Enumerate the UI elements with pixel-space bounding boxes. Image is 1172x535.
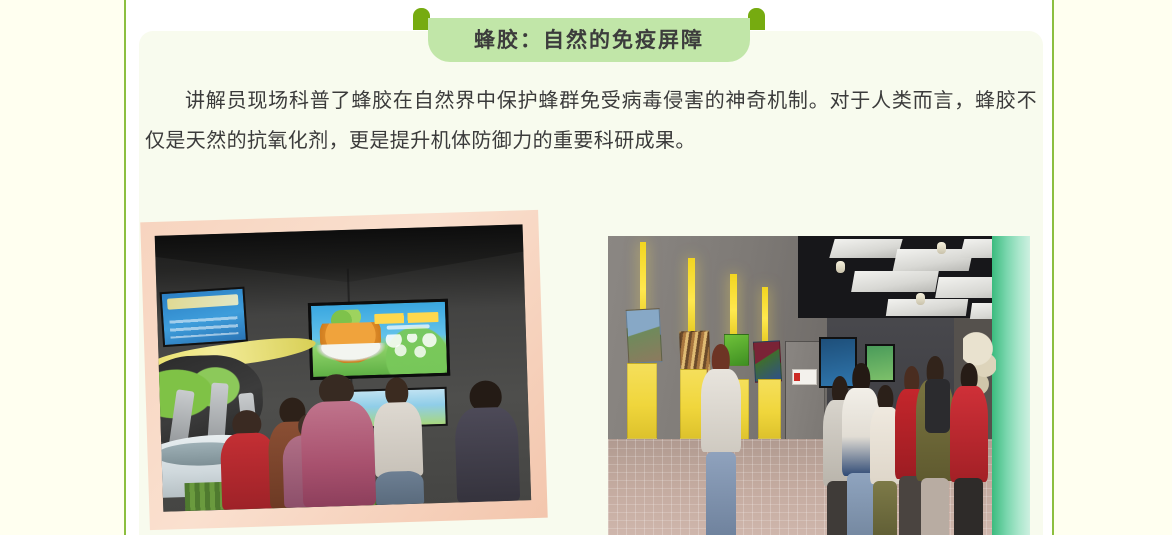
divider-rule-right xyxy=(1052,0,1054,535)
section-title-text: 蜂胶：自然的免疫屏障 xyxy=(474,30,704,51)
ceiling-spotlight-icon xyxy=(937,242,946,254)
body-paragraph: 讲解员现场科普了蜂胶在自然界中保护蜂群免受病毒侵害的神奇机制。对于人类而言，蜂胶… xyxy=(145,81,1037,161)
wall-notice-sign xyxy=(792,369,817,385)
ceiling-spotlight-icon xyxy=(836,261,845,273)
photo-right xyxy=(608,236,1030,535)
divider-rule-left xyxy=(124,0,126,535)
backpack-icon xyxy=(925,379,950,433)
photo-left-frame xyxy=(140,210,547,530)
ceiling-spotlight-icon xyxy=(916,293,925,305)
exhibit-photo-card xyxy=(753,340,783,383)
photo-row xyxy=(139,186,1043,535)
guide-figure xyxy=(373,377,425,505)
exhibit-yellow-panel xyxy=(627,363,657,439)
exhibit-photo-card xyxy=(626,308,663,364)
exhibit-side-screen xyxy=(159,287,247,348)
banner-tab-right-icon xyxy=(748,8,765,30)
article-page: 蜂胶：自然的免疫屏障 讲解员现场科普了蜂胶在自然界中保护蜂群免受病毒侵害的神奇机… xyxy=(0,0,1172,535)
photo-left-image xyxy=(155,224,531,511)
guide-figure xyxy=(701,344,741,535)
page-gutter-right xyxy=(1054,0,1172,535)
photo-left xyxy=(140,210,547,530)
banner-body: 蜂胶：自然的免疫屏障 xyxy=(428,18,750,62)
section-title-banner: 蜂胶：自然的免疫屏障 xyxy=(413,8,765,62)
visitor-figure xyxy=(950,363,988,535)
exhibit-yellow-panel xyxy=(758,379,781,439)
page-gutter-left xyxy=(0,0,124,535)
content-card: 蜂胶：自然的免疫屏障 讲解员现场科普了蜂胶在自然界中保护蜂群免受病毒侵害的神奇机… xyxy=(139,31,1043,535)
green-pillar xyxy=(992,236,1030,535)
exhibit-main-screen xyxy=(308,298,450,380)
visitor-figure xyxy=(299,373,377,508)
visitor-figure xyxy=(454,379,520,502)
